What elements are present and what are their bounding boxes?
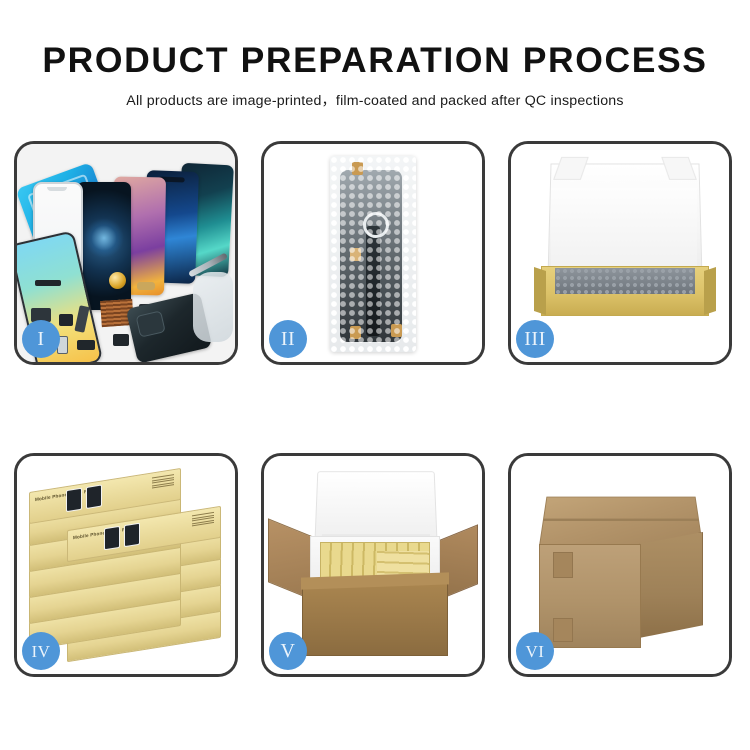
bubble-texture-overlay — [330, 156, 416, 352]
part-graphic — [59, 314, 73, 326]
bubble-fill-graphic — [555, 268, 695, 294]
step-badge-1: I — [22, 320, 60, 358]
step-panel-4: Mobile Phone Spare Parts Mobile Phone Sp… — [14, 453, 238, 677]
page-subtitle: All products are image-printed，film-coat… — [0, 79, 750, 110]
carton-tape-lower — [553, 618, 573, 642]
process-steps-grid: I II — [14, 141, 736, 677]
step-3-image: III — [511, 144, 729, 362]
part-graphic — [137, 282, 155, 290]
box-spec-lines — [192, 512, 214, 527]
step-1-image: I — [17, 144, 235, 362]
step-badge-2: II — [269, 320, 307, 358]
step-badge-6: VI — [516, 632, 554, 670]
step-panel-3: III — [508, 141, 732, 365]
step-panel-1: I — [14, 141, 238, 365]
box-spec-lines — [152, 474, 174, 489]
foam-lid-graphic — [315, 471, 438, 538]
step-6-image: VI — [511, 456, 729, 674]
box-thumbnail-image — [66, 488, 82, 513]
camera-ring-part-graphic — [109, 272, 126, 289]
step-badge-4: IV — [22, 632, 60, 670]
product-preparation-process-page: PRODUCT PREPARATION PROCESS All products… — [0, 0, 750, 750]
page-header: PRODUCT PREPARATION PROCESS All products… — [0, 0, 750, 110]
step-badge-3: III — [516, 320, 554, 358]
step-panel-2: II — [261, 141, 485, 365]
box-thumbnail-image — [124, 523, 140, 548]
carton-side-face — [639, 532, 703, 638]
box-thumbnail-image — [86, 484, 102, 509]
hand-graphic — [193, 272, 233, 342]
box-thumbnail-image — [104, 526, 120, 551]
step-panel-6: VI — [508, 453, 732, 677]
foam-sheet-graphic — [551, 188, 697, 272]
bubble-wrap-bag-graphic — [330, 156, 416, 352]
part-graphic — [35, 280, 61, 286]
box-thumbnails — [66, 484, 102, 512]
step-5-image: V — [264, 456, 482, 674]
page-title: PRODUCT PREPARATION PROCESS — [0, 0, 750, 79]
step-panel-5: V — [261, 453, 485, 677]
carton-tape-upper — [553, 552, 573, 578]
part-graphic — [77, 340, 95, 350]
box-stack-graphic: Mobile Phone Spare Parts Mobile Phone Sp… — [23, 472, 229, 662]
step-badge-5: V — [269, 632, 307, 670]
part-graphic — [113, 334, 129, 346]
carton-body-graphic — [302, 582, 448, 656]
step-2-image: II — [264, 144, 482, 362]
box-thumbnails — [104, 523, 140, 551]
step-4-image: Mobile Phone Spare Parts Mobile Phone Sp… — [17, 456, 235, 674]
